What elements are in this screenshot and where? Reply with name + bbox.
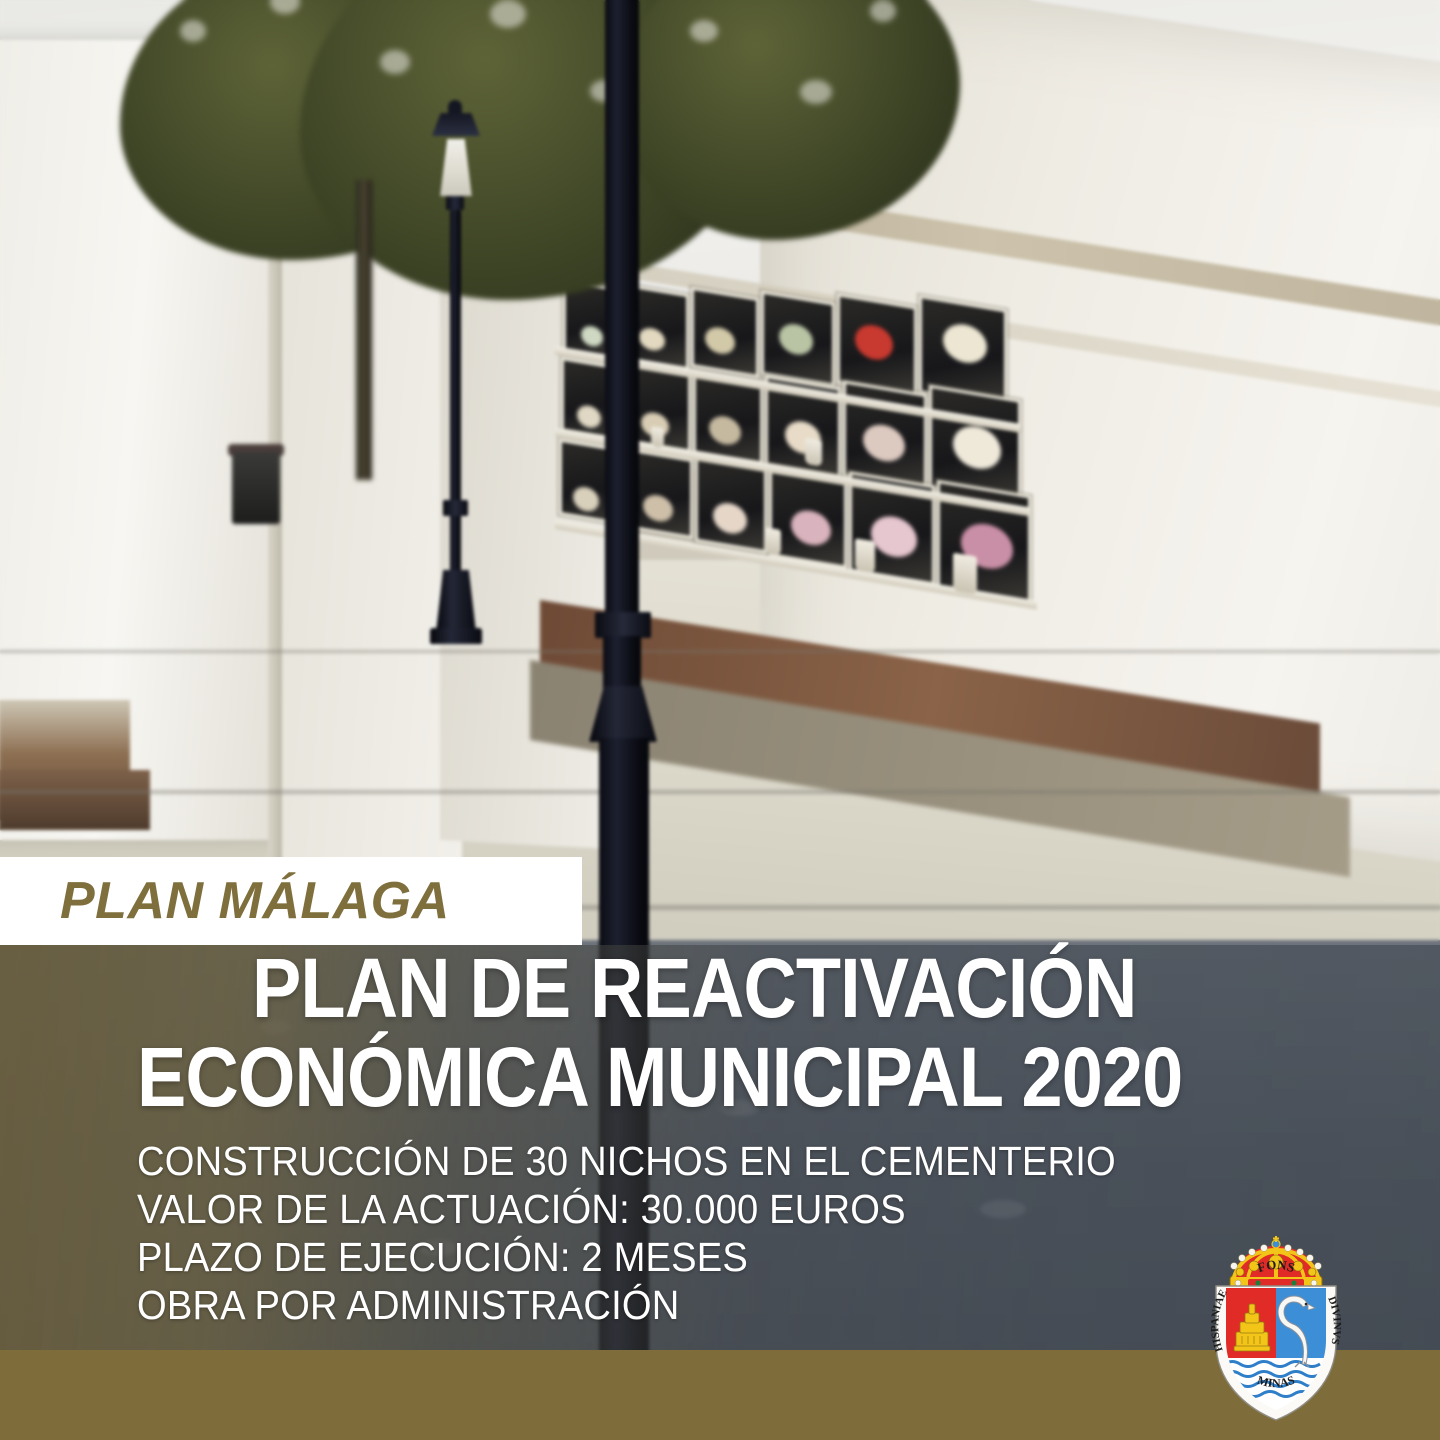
pavement-seam-2 [0,790,1440,794]
municipal-coat-of-arms: FONS MINAS HISPANIAE DIVINVS [1196,1236,1356,1426]
headline-line-2: ECONÓMICA MUNICIPAL 2020 [137,1037,1284,1118]
tree-trunk-center [356,180,372,480]
detail-line-obra: OBRA POR ADMINISTRACIÓN [137,1282,1207,1330]
poster-root: PLAN MÁLAGA PLAN DE REACTIVACIÓN ECONÓMI… [0,0,1440,1440]
headline-line-1: PLAN DE REACTIVACIÓN [252,948,1297,1029]
kicker-band: PLAN MÁLAGA [0,857,582,945]
detail-line-construccion: CONSTRUCCIÓN DE 30 NICHOS EN EL CEMENTER… [137,1138,1207,1186]
detail-line-plazo: PLAZO DE EJECUCIÓN: 2 MESES [137,1234,1207,1282]
headline-block: PLAN DE REACTIVACIÓN ECONÓMICA MUNICIPAL… [0,948,1440,1117]
detail-block: CONSTRUCCIÓN DE 30 NICHOS EN EL CEMENTER… [137,1138,1287,1330]
pavement-seam-1 [0,650,1440,653]
detail-line-valor: VALOR DE LA ACTUACIÓN: 30.000 EUROS [137,1186,1207,1234]
plan-malaga-label: PLAN MÁLAGA [60,871,450,931]
street-lamp-far [410,100,500,640]
stair-riser [0,770,150,830]
trash-bin [232,452,280,524]
